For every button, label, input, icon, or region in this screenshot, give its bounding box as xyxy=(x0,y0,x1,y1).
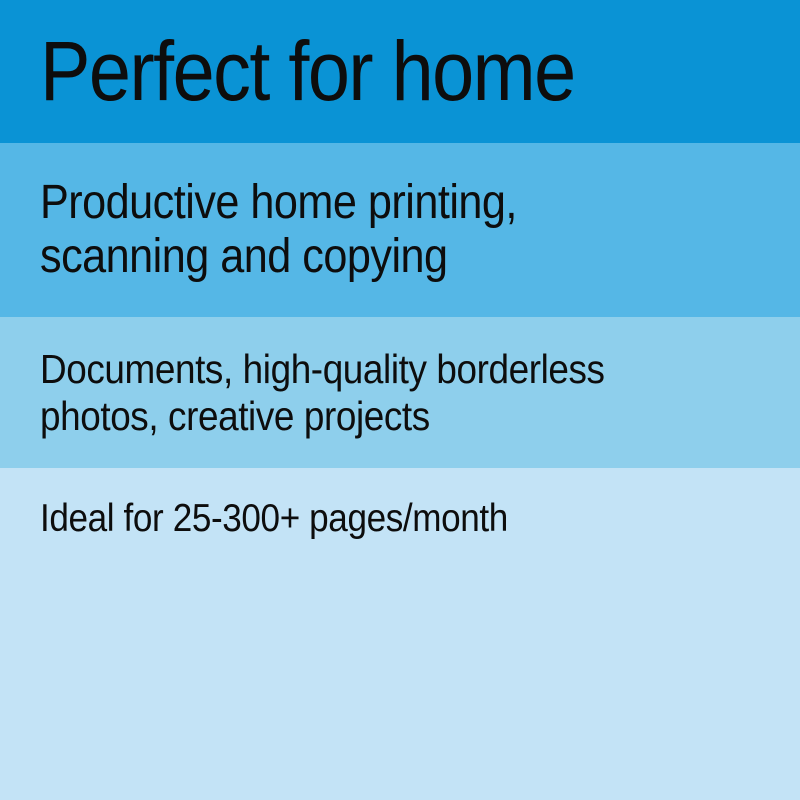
use-cases-line-1: Documents, high-quality borderless xyxy=(40,346,702,392)
subheadline: Productive home printing, scanning and c… xyxy=(40,176,702,284)
use-cases-band: Documents, high-quality borderless photo… xyxy=(0,317,800,468)
subhead-band: Productive home printing, scanning and c… xyxy=(0,143,800,317)
subheadline-line-1: Productive home printing, xyxy=(40,176,702,230)
page-volume-band: Ideal for 25-300+ pages/month xyxy=(0,468,800,800)
product-feature-poster: Perfect for home Productive home printin… xyxy=(0,0,800,800)
use-cases-line-2: photos, creative projects xyxy=(40,393,702,439)
page-title: Perfect for home xyxy=(40,30,702,112)
use-cases-text: Documents, high-quality borderless photo… xyxy=(40,346,702,439)
headline-band: Perfect for home xyxy=(0,0,800,143)
subheadline-line-2: scanning and copying xyxy=(40,230,702,284)
page-volume-text: Ideal for 25-300+ pages/month xyxy=(40,498,702,541)
